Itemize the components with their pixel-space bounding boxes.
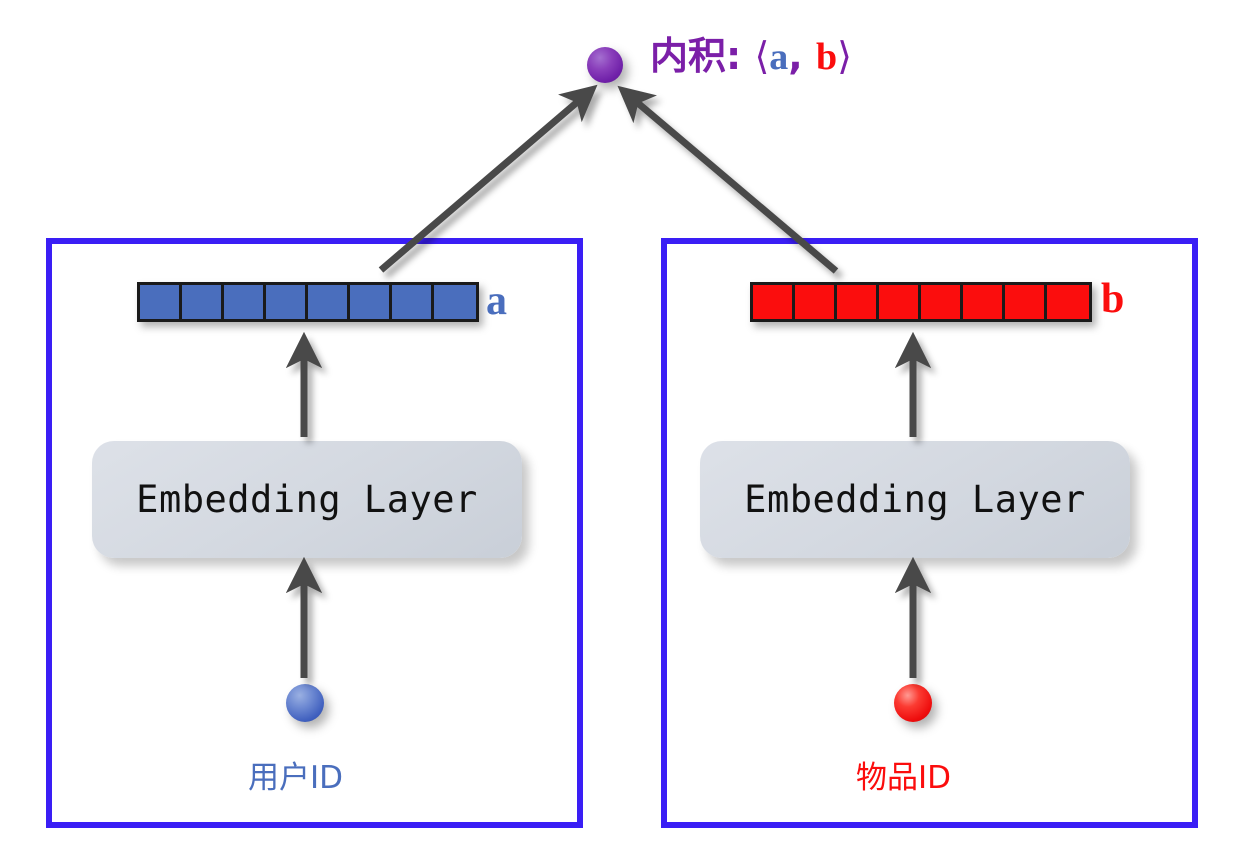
vector-cell: [753, 285, 795, 319]
vector-cell: [1047, 285, 1089, 319]
vector-cell: [392, 285, 434, 319]
item-id-dot-icon: [894, 684, 932, 722]
vector-cell: [308, 285, 350, 319]
inner-product-dot-icon: [587, 47, 623, 83]
diagram-canvas: 内积: ⟨a, b⟩ a b Embedding Layer Embedding…: [0, 0, 1250, 843]
title-vector-a: a: [769, 36, 788, 78]
item-id-label: 物品ID: [856, 752, 951, 797]
user-id-dot-icon: [286, 684, 324, 722]
vector-cell: [434, 285, 476, 319]
user-embedding-vector: [137, 282, 479, 322]
vector-cell: [350, 285, 392, 319]
inner-product-title: 内积: ⟨a, b⟩: [650, 36, 852, 79]
user-embedding-layer-label: Embedding Layer: [136, 478, 478, 521]
vector-cell: [182, 285, 224, 319]
item-embedding-layer-box: Embedding Layer: [700, 441, 1130, 558]
user-vector-label: a: [486, 280, 507, 322]
title-comma: ,: [788, 34, 802, 78]
item-embedding-vector: [750, 282, 1092, 322]
vector-cell: [1005, 285, 1047, 319]
vector-cell: [795, 285, 837, 319]
vector-cell: [963, 285, 1005, 319]
user-id-label: 用户ID: [248, 752, 343, 797]
item-vector-label: b: [1101, 278, 1124, 320]
item-embedding-layer-label: Embedding Layer: [744, 478, 1086, 521]
vector-cell: [879, 285, 921, 319]
vector-cell: [224, 285, 266, 319]
vector-cell: [266, 285, 308, 319]
inner-product-label: 内积:: [650, 34, 741, 78]
title-vector-b: b: [816, 36, 837, 78]
user-embedding-layer-box: Embedding Layer: [92, 441, 522, 558]
vector-cell: [140, 285, 182, 319]
vector-cell: [921, 285, 963, 319]
vector-cell: [837, 285, 879, 319]
angle-bracket-open: ⟨: [754, 36, 769, 78]
angle-bracket-close: ⟩: [837, 36, 852, 78]
